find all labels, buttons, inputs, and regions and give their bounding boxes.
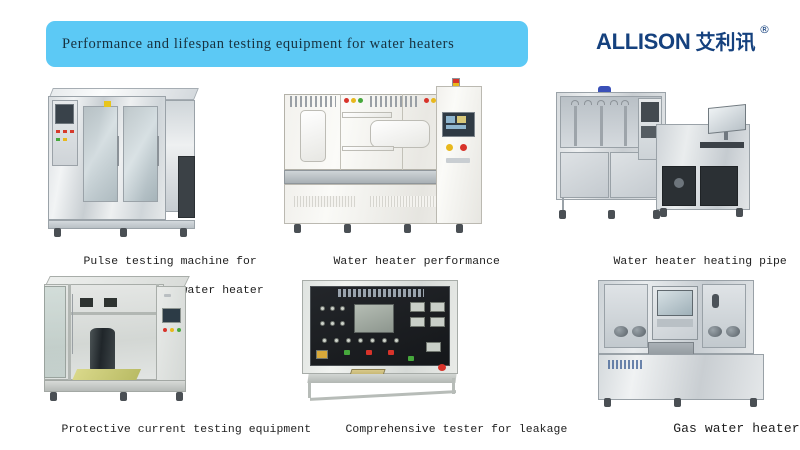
product-image-heating-pipe-life-testing-machine	[550, 78, 764, 238]
bench-brand-mark	[608, 360, 642, 369]
product-showcase-page: Performance and lifespan testing equipme…	[0, 0, 800, 450]
product-caption-gas-water-heater-testing-equipment: Gas water heater testing equipment	[610, 404, 800, 450]
panel-title-chinese	[338, 289, 424, 297]
caption-line-1: Pulse testing machine for	[83, 256, 256, 268]
product-card-protective-current-testing-equipment[interactable]: Protective current testing equipment for…	[0, 268, 280, 450]
brand-chinese-text: 艾利讯	[695, 30, 755, 54]
registered-trademark-icon: ®	[759, 23, 770, 36]
product-image-performance-testing-machine	[278, 78, 490, 238]
product-image-gas-water-heater-testing-equipment	[584, 268, 780, 408]
product-card-pulse-testing-machine[interactable]: Pulse testing machine for inner tank of …	[14, 78, 270, 264]
product-card-water-heater-performance-testing-machine[interactable]: Water heater performance testing machine	[272, 78, 534, 264]
product-card-gas-water-heater-testing-equipment[interactable]: Gas water heater testing equipment	[566, 268, 800, 450]
caption-line-1: Water heater performance	[333, 256, 499, 268]
title-banner: Performance and lifespan testing equipme…	[46, 21, 528, 67]
display-screen	[354, 304, 394, 333]
product-caption-leakage-protection-plug-tester: Comprehensive tester for leakage protect…	[290, 408, 567, 450]
page-title: Performance and lifespan testing equipme…	[62, 36, 454, 53]
horizontal-water-tank	[370, 120, 430, 148]
product-image-protective-current-testing-equipment	[28, 268, 218, 408]
vertical-water-tank	[300, 110, 326, 162]
product-card-leakage-protection-plug-tester[interactable]: Comprehensive tester for leakage protect…	[282, 268, 562, 450]
product-card-heating-pipe-life-testing-machine[interactable]: Water heater heating pipe life testing m…	[540, 78, 800, 264]
product-image-leakage-protection-plug-tester	[288, 268, 478, 404]
control-screen	[162, 308, 181, 323]
page-header: Performance and lifespan testing equipme…	[0, 0, 800, 78]
product-grid: Pulse testing machine for inner tank of …	[0, 78, 800, 450]
brand-logo: ALLISON艾利讯 ®	[596, 26, 776, 64]
keypad	[657, 319, 693, 327]
hmi-screen	[657, 290, 693, 316]
hmi-screen	[442, 112, 475, 137]
product-image-pulse-testing-machine	[28, 78, 228, 240]
keyboard	[700, 142, 744, 148]
control-screen	[55, 104, 74, 124]
caption-line-1: Gas water heater	[673, 421, 799, 436]
caption-line-1: Comprehensive tester for leakage	[345, 424, 567, 436]
caption-line-1: Protective current testing equipment	[61, 424, 311, 436]
control-screen	[641, 102, 659, 122]
brand-latin-text: ALLISON	[596, 29, 690, 54]
product-caption-protective-current-testing-equipment: Protective current testing equipment for…	[6, 408, 325, 450]
caption-line-1: Water heater heating pipe	[613, 256, 786, 268]
monitor-screen	[708, 104, 746, 134]
inner-liner-tank	[90, 328, 115, 373]
